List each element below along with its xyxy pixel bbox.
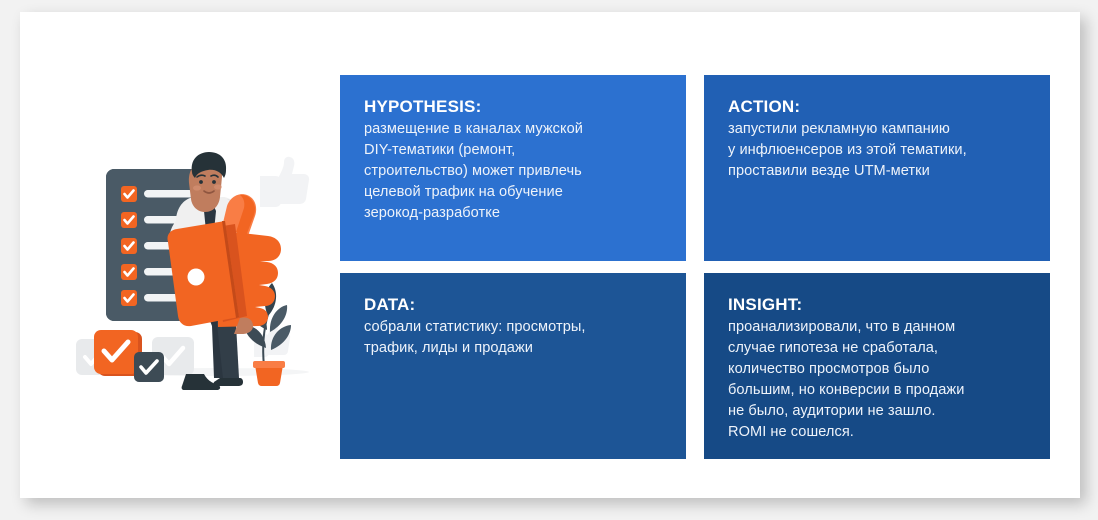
slide-card: HYPOTHESIS: размещение в каналах мужской…	[20, 12, 1080, 498]
panel-insight-body: проанализировали, что в данном случае ги…	[728, 317, 1027, 443]
panel-insight[interactable]: INSIGHT: проанализировали, что в данном …	[704, 273, 1050, 459]
panel-insight-title: INSIGHT:	[728, 294, 1027, 316]
panel-data-title: DATA:	[364, 294, 663, 316]
panel-hypothesis-title: HYPOTHESIS:	[364, 96, 663, 118]
panel-data[interactable]: DATA: собрали статистику: просмотры, тра…	[340, 273, 686, 459]
panel-action[interactable]: ACTION: запустили рекламную кампанию у и…	[704, 75, 1050, 261]
panel-grid: HYPOTHESIS: размещение в каналах мужской…	[340, 75, 1050, 459]
illustration-man-thumbs-up	[64, 134, 334, 416]
background-thumb-icon-top	[260, 157, 309, 207]
panel-action-body: запустили рекламную кампанию у инфлюенсе…	[728, 119, 1027, 182]
scattered-checkboxes	[76, 330, 194, 382]
panel-hypothesis-body: размещение в каналах мужской DIY-тематик…	[364, 119, 663, 224]
panel-action-title: ACTION:	[728, 96, 1027, 118]
panel-data-body: собрали статистику: просмотры, трафик, л…	[364, 317, 663, 359]
panel-hypothesis[interactable]: HYPOTHESIS: размещение в каналах мужской…	[340, 75, 686, 261]
